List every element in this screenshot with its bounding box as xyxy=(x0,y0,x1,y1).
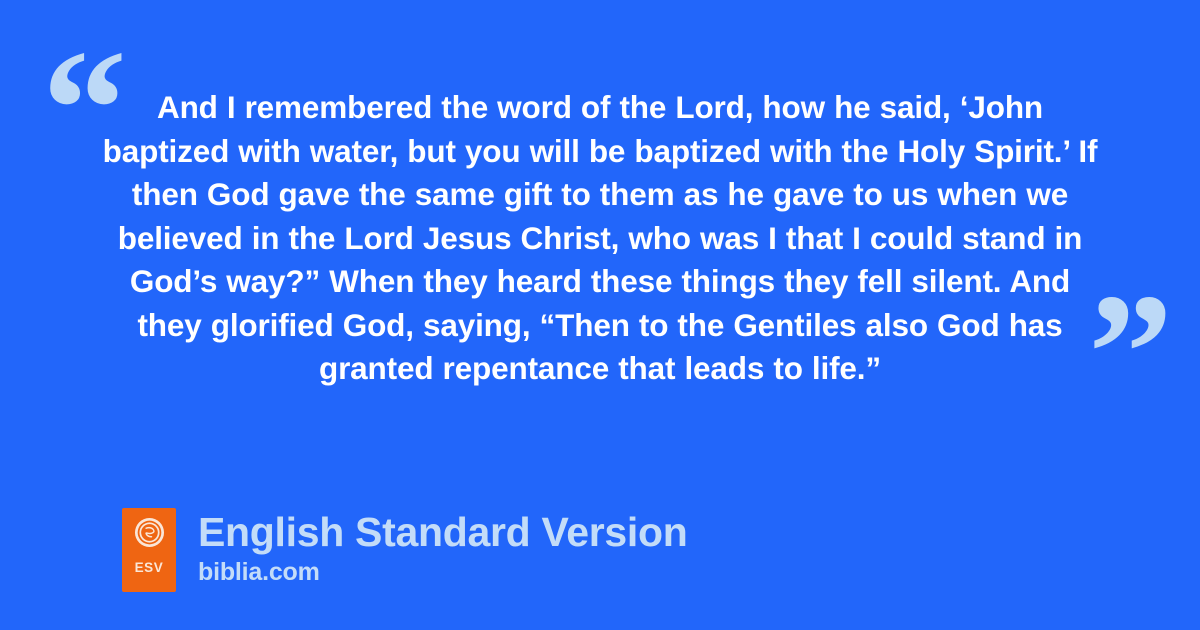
esv-badge[interactable]: ESV xyxy=(122,508,176,592)
brand-text-block: English Standard Version biblia.com xyxy=(198,508,687,587)
quote-text: And I remembered the word of the Lord, h… xyxy=(100,86,1100,391)
brand-footer[interactable]: ESV English Standard Version biblia.com xyxy=(122,508,687,592)
verse-image-card: “ And I remembered the word of the Lord,… xyxy=(0,0,1200,630)
esv-badge-label: ESV xyxy=(135,561,164,575)
esv-seal-icon xyxy=(134,517,165,548)
closing-quote-icon: ” xyxy=(1088,268,1173,438)
site-url-label[interactable]: biblia.com xyxy=(198,557,687,587)
bible-version-title: English Standard Version xyxy=(198,509,687,556)
